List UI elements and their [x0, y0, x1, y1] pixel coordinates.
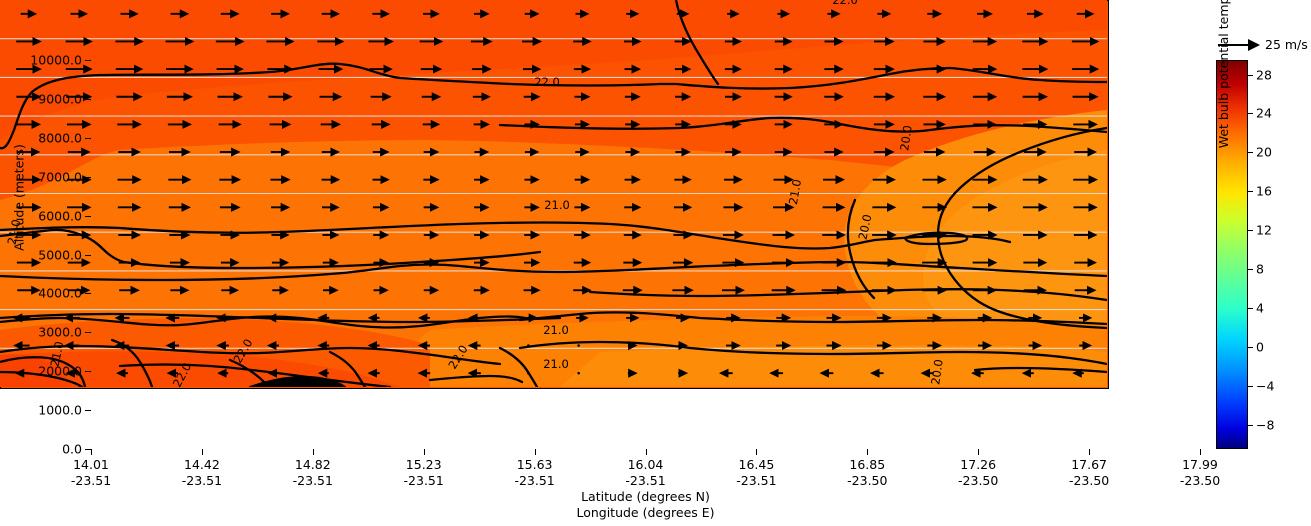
y-tick-mark — [85, 332, 91, 333]
x-tick-mark — [1200, 449, 1201, 455]
y-tick-mark — [85, 371, 91, 372]
x-tick-label-group: 14.82-23.51 — [293, 457, 333, 489]
y-tick-label: 1000.0 — [38, 403, 82, 418]
x-tick-mark — [313, 449, 314, 455]
x-tick-label-group: 17.67-23.50 — [1069, 457, 1109, 489]
x-tick-mark — [867, 449, 868, 455]
y-tick-label: 3000.0 — [38, 325, 82, 340]
x-tick-label-group: 15.63-23.51 — [514, 457, 554, 489]
colorbar-tick-mark — [1248, 269, 1253, 270]
x-tick-mark — [978, 449, 979, 455]
x-tick-mark — [1089, 449, 1090, 455]
x-tick-label-longitude: -23.51 — [625, 473, 665, 489]
x-tick-label-latitude: 17.67 — [1069, 457, 1109, 473]
colorbar-tick-mark — [1248, 152, 1253, 153]
x-tick-label-longitude: -23.50 — [1069, 473, 1109, 489]
x-tick-label-latitude: 14.82 — [293, 457, 333, 473]
x-tick-label-latitude: 16.85 — [847, 457, 887, 473]
x-tick-label-longitude: -23.50 — [1180, 473, 1220, 489]
wind-vector-arrow — [527, 372, 530, 375]
x-tick-label-group: 15.23-23.51 — [404, 457, 444, 489]
y-tick-label: 7000.0 — [38, 169, 82, 184]
x-tick-mark — [91, 449, 92, 455]
x-tick-label-longitude: -23.51 — [736, 473, 776, 489]
y-tick-label: 2000.0 — [38, 364, 82, 379]
x-tick-label-longitude: -23.51 — [514, 473, 554, 489]
y-tick-label: 9000.0 — [38, 91, 82, 106]
x-tick-label-longitude: -23.50 — [847, 473, 887, 489]
x-axis-label-latitude: Latitude (degrees N) — [0, 489, 1291, 504]
colorbar-tick-mark — [1248, 230, 1253, 231]
x-tick-label-group: 14.42-23.51 — [182, 457, 222, 489]
contour-label: 22.0 — [832, 0, 858, 7]
y-tick-mark — [85, 293, 91, 294]
colorbar-tick-mark — [1248, 347, 1253, 348]
x-tick-mark — [535, 449, 536, 455]
contour-label: 21.0 — [543, 323, 569, 337]
x-tick-label-latitude: 17.99 — [1180, 457, 1220, 473]
y-tick-label: 8000.0 — [38, 130, 82, 145]
x-tick-label-latitude: 14.42 — [182, 457, 222, 473]
y-tick-label: 4000.0 — [38, 286, 82, 301]
y-tick-mark — [85, 449, 91, 450]
x-tick-label-latitude: 17.26 — [958, 457, 998, 473]
colorbar-tick-label: 0 — [1256, 339, 1264, 354]
y-tick-label: 10000.0 — [30, 53, 82, 68]
x-tick-label-latitude: 15.23 — [404, 457, 444, 473]
x-tick-label-longitude: -23.51 — [182, 473, 222, 489]
y-tick-mark — [85, 410, 91, 411]
x-tick-label-group: 16.04-23.51 — [625, 457, 665, 489]
y-tick-label: 5000.0 — [38, 247, 82, 262]
colorbar-tick-label: 4 — [1256, 300, 1264, 315]
contour-label: 22.0 — [534, 75, 560, 89]
x-tick-label-latitude: 16.04 — [625, 457, 665, 473]
colorbar-tick-label: 28 — [1256, 67, 1272, 82]
y-tick-label: 6000.0 — [38, 208, 82, 223]
y-tick-mark — [85, 99, 91, 100]
colorbar-tick-label: 24 — [1256, 106, 1272, 121]
y-tick-mark — [85, 216, 91, 217]
colorbar-tick-label: 12 — [1256, 223, 1272, 238]
x-axis-label-longitude: Longitude (degrees E) — [0, 505, 1291, 520]
colorbar-tick-label: −8 — [1256, 417, 1274, 432]
x-tick-label-group: 16.85-23.50 — [847, 457, 887, 489]
x-tick-label-group: 14.01-23.51 — [71, 457, 111, 489]
x-tick-label-longitude: -23.51 — [404, 473, 444, 489]
wind-vector-arrow — [577, 344, 580, 347]
x-tick-label-longitude: -23.51 — [293, 473, 333, 489]
y-axis-label: Altitude (meters) — [12, 113, 27, 283]
y-tick-mark — [85, 177, 91, 178]
y-tick-mark — [85, 60, 91, 61]
cross-section-plot[interactable]: 22.022.021.021.021.021.021.022.022.022.0… — [0, 0, 1109, 389]
contour-label: 21.0 — [544, 198, 570, 212]
x-tick-label-longitude: -23.51 — [71, 473, 111, 489]
x-tick-label-group: 17.26-23.50 — [958, 457, 998, 489]
x-tick-label-latitude: 16.45 — [736, 457, 776, 473]
colorbar-tick-mark — [1248, 75, 1253, 76]
y-tick-label: 0.0 — [62, 442, 82, 457]
x-tick-mark — [646, 449, 647, 455]
x-tick-label-group: 17.99-23.50 — [1180, 457, 1220, 489]
x-tick-label-longitude: -23.50 — [958, 473, 998, 489]
x-tick-label-latitude: 14.01 — [71, 457, 111, 473]
wind-vector-arrow — [527, 344, 530, 347]
colorbar-tick-mark — [1248, 386, 1253, 387]
x-tick-label-latitude: 15.63 — [514, 457, 554, 473]
colorbar-tick-mark — [1248, 425, 1253, 426]
colorbar-tick-mark — [1248, 308, 1253, 309]
contour-label: 21.0 — [543, 357, 569, 371]
colorbar-tick-label: 16 — [1256, 184, 1272, 199]
colorbar-tick-mark — [1248, 191, 1253, 192]
x-tick-label-group: 16.45-23.51 — [736, 457, 776, 489]
colorbar-label: Wet bulb potential temperature °C — [1216, 0, 1231, 160]
colorbar-tick-label: 8 — [1256, 262, 1264, 277]
y-tick-mark — [85, 138, 91, 139]
colorbar-tick-label: −4 — [1256, 378, 1274, 393]
colorbar-tick-mark — [1248, 113, 1253, 114]
x-tick-mark — [424, 449, 425, 455]
colorbar-tick-label: 20 — [1256, 145, 1272, 160]
wind-vector-arrow — [577, 372, 580, 375]
x-tick-mark — [202, 449, 203, 455]
x-tick-mark — [756, 449, 757, 455]
y-tick-mark — [85, 255, 91, 256]
